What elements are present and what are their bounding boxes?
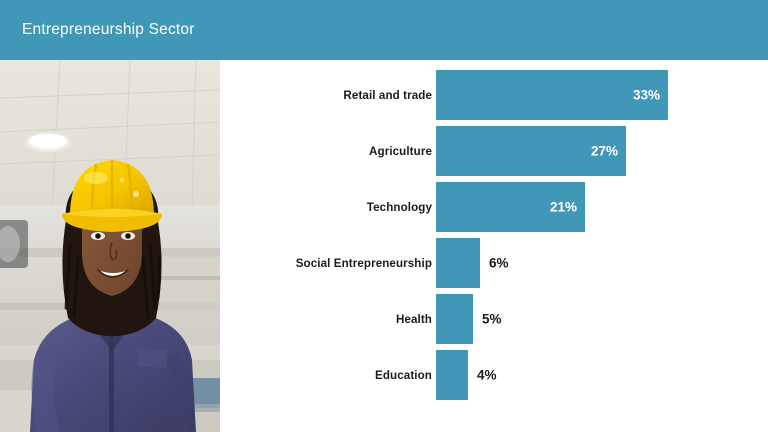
bar-category-label: Social Entrepreneurship (296, 257, 432, 270)
bar-retail-and-trade[interactable]: 33% (436, 70, 668, 120)
bar-education[interactable]: 4% (436, 350, 468, 400)
bar-agriculture[interactable]: 27% (436, 126, 626, 176)
page-title: Entrepreneurship Sector (22, 0, 195, 60)
bar-track: 5% (436, 294, 473, 344)
bar-row: Education 4% (220, 350, 768, 400)
photo-panel (0, 60, 220, 432)
bar-track: 27% (436, 126, 626, 176)
slide-root: Entrepreneurship Sector (0, 0, 768, 432)
bar-track: 4% (436, 350, 468, 400)
bar-track: 21% (436, 182, 585, 232)
bar-value-label: 5% (482, 312, 502, 327)
bar-category-label: Health (396, 313, 432, 326)
worker-photo (0, 60, 220, 432)
bar-chart: Retail and trade 33% Agriculture 27% Tec… (220, 60, 768, 432)
bar-category-label: Agriculture (369, 145, 432, 158)
bar-value-label: 27% (591, 144, 618, 159)
bar-row: Retail and trade 33% (220, 70, 768, 120)
bar-value-label: 6% (489, 256, 509, 271)
bar-row: Health 5% (220, 294, 768, 344)
bar-track: 6% (436, 238, 480, 288)
bar-row: Technology 21% (220, 182, 768, 232)
bar-social-entrepreneurship[interactable]: 6% (436, 238, 480, 288)
bar-value-label: 21% (550, 200, 577, 215)
bar-track: 33% (436, 70, 668, 120)
bar-category-label: Technology (367, 201, 432, 214)
bar-row: Social Entrepreneurship 6% (220, 238, 768, 288)
bar-category-label: Education (375, 369, 432, 382)
bar-value-label: 33% (633, 88, 660, 103)
bar-technology[interactable]: 21% (436, 182, 585, 232)
header-band: Entrepreneurship Sector (0, 0, 768, 60)
bar-category-label: Retail and trade (343, 89, 432, 102)
bar-row: Agriculture 27% (220, 126, 768, 176)
bar-value-label: 4% (477, 368, 497, 383)
bar-health[interactable]: 5% (436, 294, 473, 344)
